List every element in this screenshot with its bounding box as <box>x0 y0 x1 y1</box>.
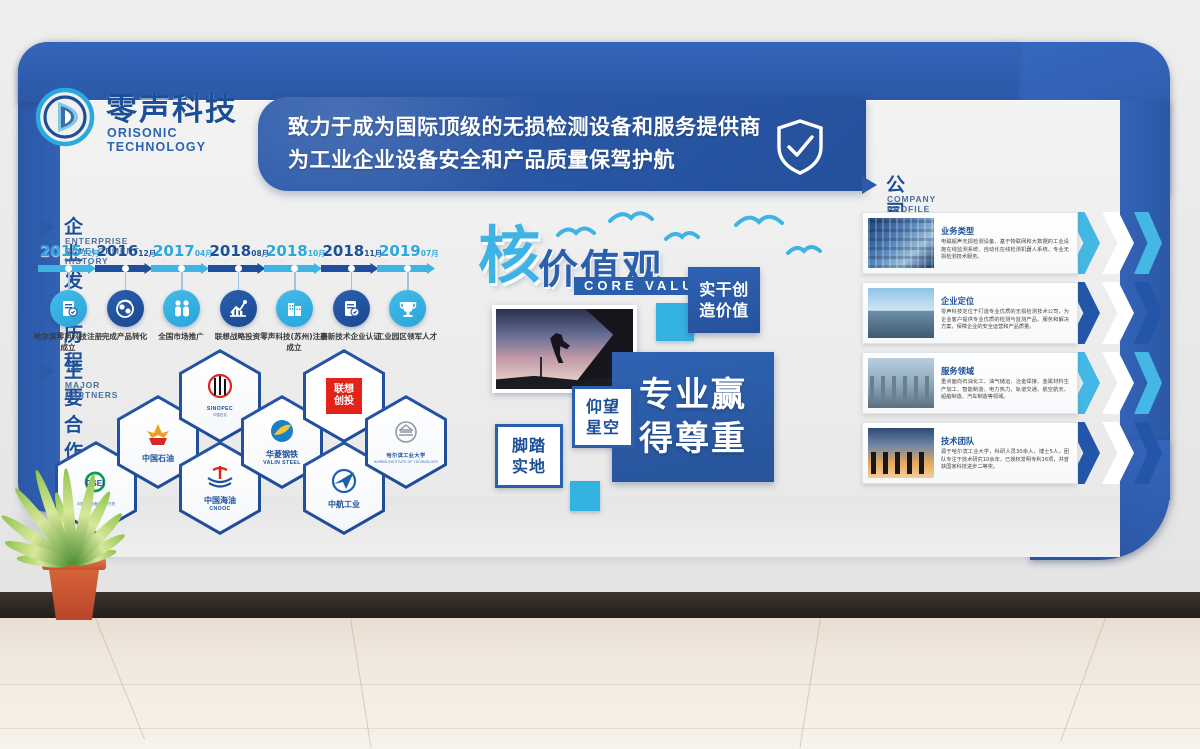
value-tag-jiaota-line2: 实地 <box>512 456 546 477</box>
partner-subname: VALIN STEEL <box>263 460 301 466</box>
timeline-icon-circle <box>276 290 313 327</box>
profile-card-text: 源于哈尔滨工业大学，科研人员30余人，博士5人，团队专注于技术研究10余年，已授… <box>941 449 1069 471</box>
timeline-month: 07月 <box>421 249 439 258</box>
partner-hex-inner: 哈尔滨工业大学HARBIN INSTITUTE OF TECHNOLOGY <box>368 399 444 486</box>
timeline-item: 201810月零声科技(苏州)注册成立 <box>266 244 322 261</box>
triangle-right-icon <box>40 218 55 236</box>
team-silhouette-photo <box>868 428 934 478</box>
petrochina-logo-icon <box>143 422 173 453</box>
profile-card[interactable]: 企业定位零声科技定位于打造专业优质的无损检测技术公司，为企业客户提供专业优质的检… <box>862 282 1078 344</box>
profile-chevron <box>1102 212 1134 274</box>
slogan-banner: 致力于成为国际顶级的无损检测设备和服务提供商 为工业企业设备安全和产品质量保驾护… <box>258 97 866 191</box>
growth-chart-icon <box>227 298 249 320</box>
value-tag-yangwang-line1: 仰望 <box>586 396 620 417</box>
sinopec-logo-icon <box>205 374 235 405</box>
timeline-icon-circle <box>163 290 200 327</box>
partner-name: 中国海油 <box>204 496 236 505</box>
floor-seam <box>95 618 145 740</box>
profile-card-title: 业务类型 <box>941 225 1069 237</box>
timeline-year: 201810月 <box>266 244 322 261</box>
certificate-icon <box>58 298 80 320</box>
value-main-line1: 专业赢 <box>639 373 747 417</box>
slogan-line-1: 致力于成为国际顶级的无损检测设备和服务提供商 <box>288 111 761 144</box>
gear-cycle-icon <box>114 298 136 320</box>
logo-name-en: ORISONIC TECHNOLOGY <box>107 126 249 154</box>
value-tag-yangwang: 仰望 星空 <box>572 386 634 448</box>
trophy-icon <box>397 298 419 320</box>
timeline-icon-circle <box>50 290 87 327</box>
partner-tiny-text: HARBIN INSTITUTE OF TECHNOLOGY <box>374 460 439 464</box>
timeline-year-value: 2017 <box>153 242 195 260</box>
timeline-icon-circle <box>107 290 144 327</box>
timeline-year-value: 2019 <box>379 242 421 260</box>
timeline-year: 201907月 <box>379 244 435 261</box>
timeline-stem <box>351 272 353 292</box>
timeline-stem <box>125 272 127 292</box>
timeline-dot <box>65 265 72 272</box>
triangle-right-icon <box>40 362 55 380</box>
timeline-year: 201704月 <box>153 244 209 261</box>
shield-check-icon <box>776 119 824 175</box>
timeline-dot <box>235 265 242 272</box>
profile-chevron <box>1102 352 1134 414</box>
value-tag-shigan: 实干创 造价值 <box>688 267 760 333</box>
profile-card-body: 技术团队源于哈尔滨工业大学，科研人员30余人，博士5人，团队专注于技术研究10余… <box>934 435 1072 472</box>
timeline-year: 201512月 <box>40 244 96 261</box>
industrial-equipment-photo <box>868 218 934 268</box>
timeline-stem <box>294 272 296 292</box>
climber-silhouette <box>548 333 570 363</box>
avic-logo-icon <box>329 468 359 499</box>
value-tag-yangwang-line2: 星空 <box>586 417 620 438</box>
partner-tiny-text: 中国石化 <box>213 413 227 417</box>
profile-chevron <box>1134 282 1162 344</box>
people-icon <box>171 298 193 320</box>
value-tag-jiaota-line1: 脚踏 <box>512 435 546 456</box>
profile-card[interactable]: 技术团队源于哈尔滨工业大学，科研人员30余人，博士5人，团队专注于技术研究10余… <box>862 422 1078 484</box>
flying-birds <box>540 205 840 275</box>
timeline-stem <box>238 272 240 292</box>
company-profile-cards: 业务类型电磁超声无损检测设备、基于物联网和大数据的工业设施在线监测系统、自动化在… <box>862 172 1162 492</box>
partner-name: 华菱钢铁 <box>266 450 298 459</box>
partner-subname: CNOOC <box>209 506 230 512</box>
value-main-line2: 得尊重 <box>639 417 747 461</box>
profile-card[interactable]: 服务领域重点面向石油化工、油气储运、冶金焊接、金属材料生产加工、智能制造、电力热… <box>862 352 1078 414</box>
profile-chevron <box>1134 422 1162 484</box>
partner-subname: 哈尔滨工业大学 <box>386 452 425 459</box>
profile-chevron <box>1102 282 1134 344</box>
floor-seam <box>1060 618 1106 741</box>
timeline-year: 201612月 <box>97 244 153 261</box>
slogan-line-2: 为工业企业设备安全和产品质量保驾护航 <box>288 144 761 177</box>
timeline-year: 201808月 <box>210 244 266 261</box>
logo-name-cn: 零声科技 <box>106 84 238 129</box>
flower-pot <box>46 564 102 620</box>
timeline-year-value: 2018 <box>323 242 365 260</box>
floor-seam <box>0 728 1200 729</box>
timeline-year-value: 2015 <box>40 242 82 260</box>
profile-card-body: 服务领域重点面向石油化工、油气储运、冶金焊接、金属材料生产加工、智能制造、电力热… <box>934 365 1072 402</box>
lenovo-capital-logo-icon: 联想创投 <box>326 378 362 414</box>
floor <box>0 618 1200 749</box>
hit-logo-icon <box>391 420 421 451</box>
timeline-item: 201704月全国市场推广 <box>153 244 209 261</box>
core-values-big-char: 核 <box>478 205 536 295</box>
value-tag-shigan-line2: 造价值 <box>699 300 749 321</box>
valin-logo-icon <box>267 418 297 449</box>
slogan-text: 致力于成为国际顶级的无损检测设备和服务提供商 为工业企业设备安全和产品质量保驾护… <box>288 111 761 177</box>
timeline-icon-circle <box>389 290 426 327</box>
timeline-item: 201811月高新技术企业认证 <box>323 244 379 261</box>
city-skyline-photo <box>868 288 934 338</box>
timeline-item: 201512月哈尔滨零声科技注册成立 <box>40 244 96 261</box>
value-main-slogan: 专业赢 得尊重 <box>612 352 774 482</box>
timeline-dot <box>122 265 129 272</box>
value-tag-jiaota: 脚踏 实地 <box>495 424 563 488</box>
profile-card-body: 企业定位零声科技定位于打造专业优质的无损检测技术公司，为企业客户提供专业优质的检… <box>934 295 1072 332</box>
timeline-dot <box>178 265 185 272</box>
profile-chevron <box>1134 352 1162 414</box>
office-wall-scene: 零声科技 ORISONIC TECHNOLOGY 致力于成为国际顶级的无损检测设… <box>0 0 1200 749</box>
profile-chevron <box>1102 422 1134 484</box>
timeline-year: 201811月 <box>323 244 379 261</box>
partner-name: 中国石油 <box>142 454 174 463</box>
partner-name: 中航工业 <box>328 500 360 509</box>
timeline-label: 工业园区领军人才 <box>370 332 444 343</box>
timeline-stem <box>407 272 409 292</box>
profile-card[interactable]: 业务类型电磁超声无损检测设备、基于物联网和大数据的工业设施在线监测系统、自动化在… <box>862 212 1078 274</box>
profile-chevron <box>1134 212 1162 274</box>
timeline-stem <box>181 272 183 292</box>
timeline-icon-circle <box>333 290 370 327</box>
timeline-dot <box>291 265 298 272</box>
profile-card-title: 企业定位 <box>941 295 1069 307</box>
timeline-dot <box>348 265 355 272</box>
profile-card-body: 业务类型电磁超声无损检测设备、基于物联网和大数据的工业设施在线监测系统、自动化在… <box>934 225 1072 262</box>
timeline-icon-circle <box>220 290 257 327</box>
sound-wave-icon <box>34 86 96 148</box>
certificate-icon <box>340 298 362 320</box>
timeline-item: 201808月联想战略投资 <box>210 244 266 261</box>
profile-card-text: 电磁超声无损检测设备、基于物联网和大数据的工业设施在线监测系统、自动化在线检测机… <box>941 239 1069 261</box>
timeline-stem <box>68 272 70 292</box>
profile-card-title: 服务领域 <box>941 365 1069 377</box>
floor-seam <box>0 684 1200 685</box>
profile-card-title: 技术团队 <box>941 435 1069 447</box>
potted-plant <box>10 470 145 620</box>
timeline-year-value: 2016 <box>97 242 139 260</box>
baseboard <box>0 592 1200 618</box>
profile-card-text: 零声科技定位于打造专业优质的无损检测技术公司，为企业客户提供专业优质的检测与监测… <box>941 309 1069 331</box>
timeline-year-value: 2018 <box>266 242 308 260</box>
timeline-year-value: 2018 <box>210 242 252 260</box>
timeline-dot <box>404 265 411 272</box>
decor-square-cyan-bottom <box>570 481 600 511</box>
company-logo: 零声科技 ORISONIC TECHNOLOGY <box>34 84 249 156</box>
value-tag-shigan-line1: 实干创 <box>699 279 749 300</box>
refinery-plant-photo <box>868 358 934 408</box>
development-timeline: 201512月哈尔滨零声科技注册成立201612月完成产品转化201704月全国… <box>40 244 440 340</box>
building-icon <box>284 298 306 320</box>
timeline-item: 201612月完成产品转化 <box>97 244 153 261</box>
profile-card-text: 重点面向石油化工、油气储运、冶金焊接、金属材料生产加工、智能制造、电力热力、轨道… <box>941 379 1069 401</box>
timeline-item: 201907月工业园区领军人才 <box>379 244 435 261</box>
partner-subname: SINOPEC <box>207 406 233 412</box>
cnooc-logo-icon <box>205 464 235 495</box>
